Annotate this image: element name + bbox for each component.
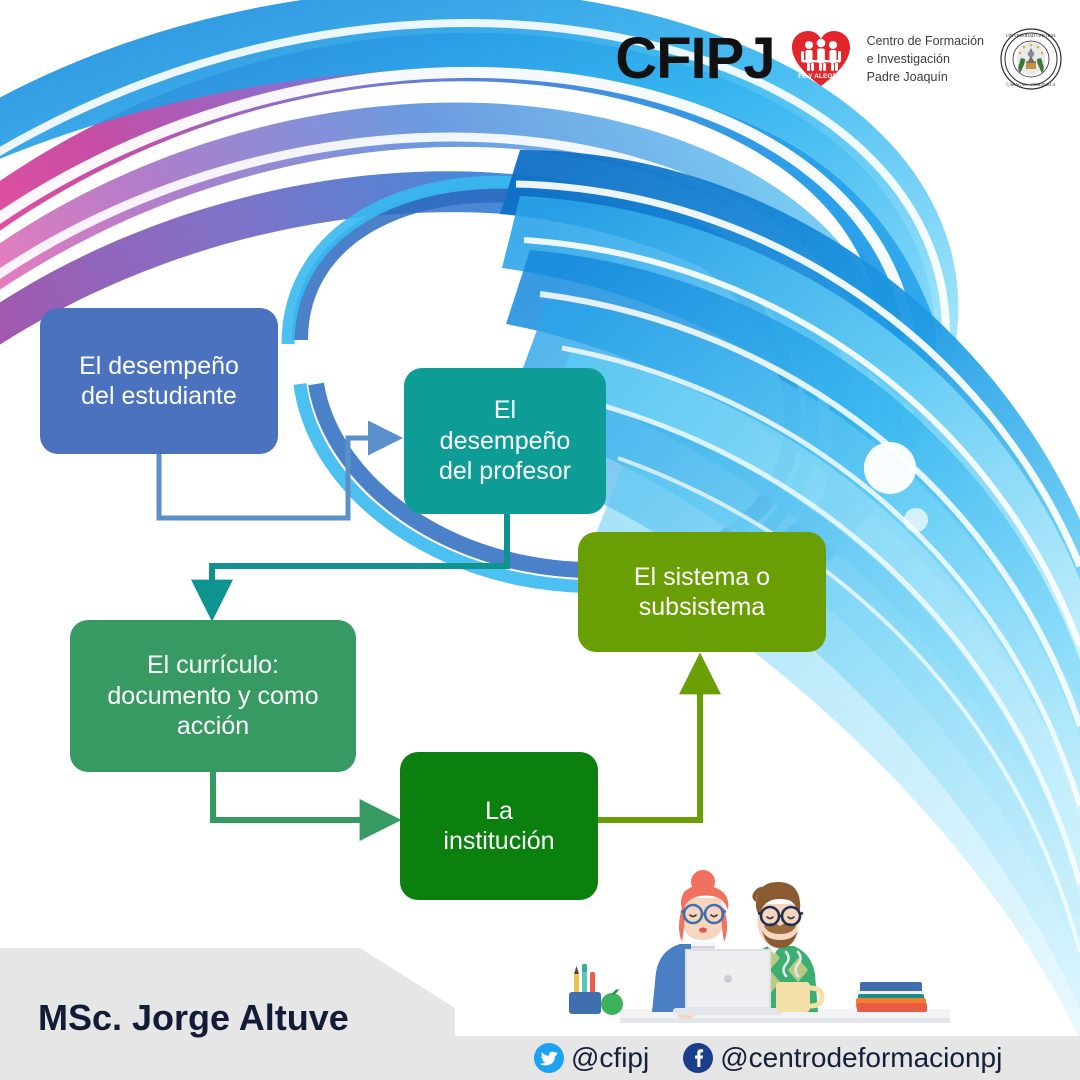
twitter-handle-group[interactable]: @cfipj <box>534 1042 649 1074</box>
flow-node-label: El sistema o subsistema <box>634 562 770 623</box>
flow-node-el-curriculo[interactable]: El currículo: documento y como acción <box>70 620 356 772</box>
poster-canvas: CFIPJ FE <box>0 0 1080 1080</box>
flow-node-label: El desempeño del profesor <box>439 395 571 487</box>
flow-node-label: El desempeño del estudiante <box>79 351 239 412</box>
two-teachers-at-desk-illustration <box>560 846 980 1041</box>
presenter-name: MSc. Jorge Altuve <box>38 997 349 1039</box>
laptop <box>673 950 783 1015</box>
fe-y-alegria-heart-icon: FE Y ALEGRIA <box>791 30 851 88</box>
facebook-handle-text: @centrodeformacionpj <box>720 1042 1002 1074</box>
apple <box>601 989 623 1015</box>
facebook-f-icon[interactable] <box>683 1043 713 1073</box>
twitter-handle-text: @cfipj <box>571 1042 649 1074</box>
header-logos: CFIPJ FE <box>615 28 1062 90</box>
social-handles: @cfipj @centrodeformacionpj <box>534 1042 1002 1074</box>
ucv-seal-icon: UNIVERSIDAD CENTRAL CARACAS - VENEZUELA <box>1000 28 1062 90</box>
facebook-handle-group[interactable]: @centrodeformacionpj <box>683 1042 1002 1074</box>
cfipj-subtitle-line-2: e Investigación <box>867 50 984 68</box>
flow-node-el-sistema-o-subsistema[interactable]: El sistema o subsistema <box>578 532 826 652</box>
book-stack-lower <box>856 996 926 997</box>
cfipj-subtitle-line-3: Padre Joaquín <box>867 68 984 86</box>
edge-curriculo-to-institucion <box>213 770 392 820</box>
edge-profesor-to-curriculo <box>212 512 507 612</box>
flow-node-label: La institución <box>443 796 554 857</box>
edge-institucion-to-sistema <box>598 662 700 820</box>
cfipj-subtitle-line-1: Centro de Formación <box>867 32 984 50</box>
heart-caption-text: FE Y ALEGRIA <box>798 73 844 80</box>
seal-top-text: UNIVERSIDAD CENTRAL <box>1006 33 1057 38</box>
twitter-bird-icon[interactable] <box>534 1043 564 1073</box>
flow-node-el-desempeno-del-estudiante[interactable]: El desempeño del estudiante <box>40 308 278 454</box>
cfipj-subtitle: Centro de Formación e Investigación Padr… <box>867 32 984 86</box>
pencil-cup <box>569 964 601 1014</box>
seal-bottom-text: CARACAS - VENEZUELA <box>1006 82 1056 87</box>
cfipj-wordmark: CFIPJ <box>615 30 774 88</box>
flow-node-label: El currículo: documento y como acción <box>107 650 318 742</box>
flow-node-el-desempeno-del-profesor[interactable]: El desempeño del profesor <box>404 368 606 514</box>
